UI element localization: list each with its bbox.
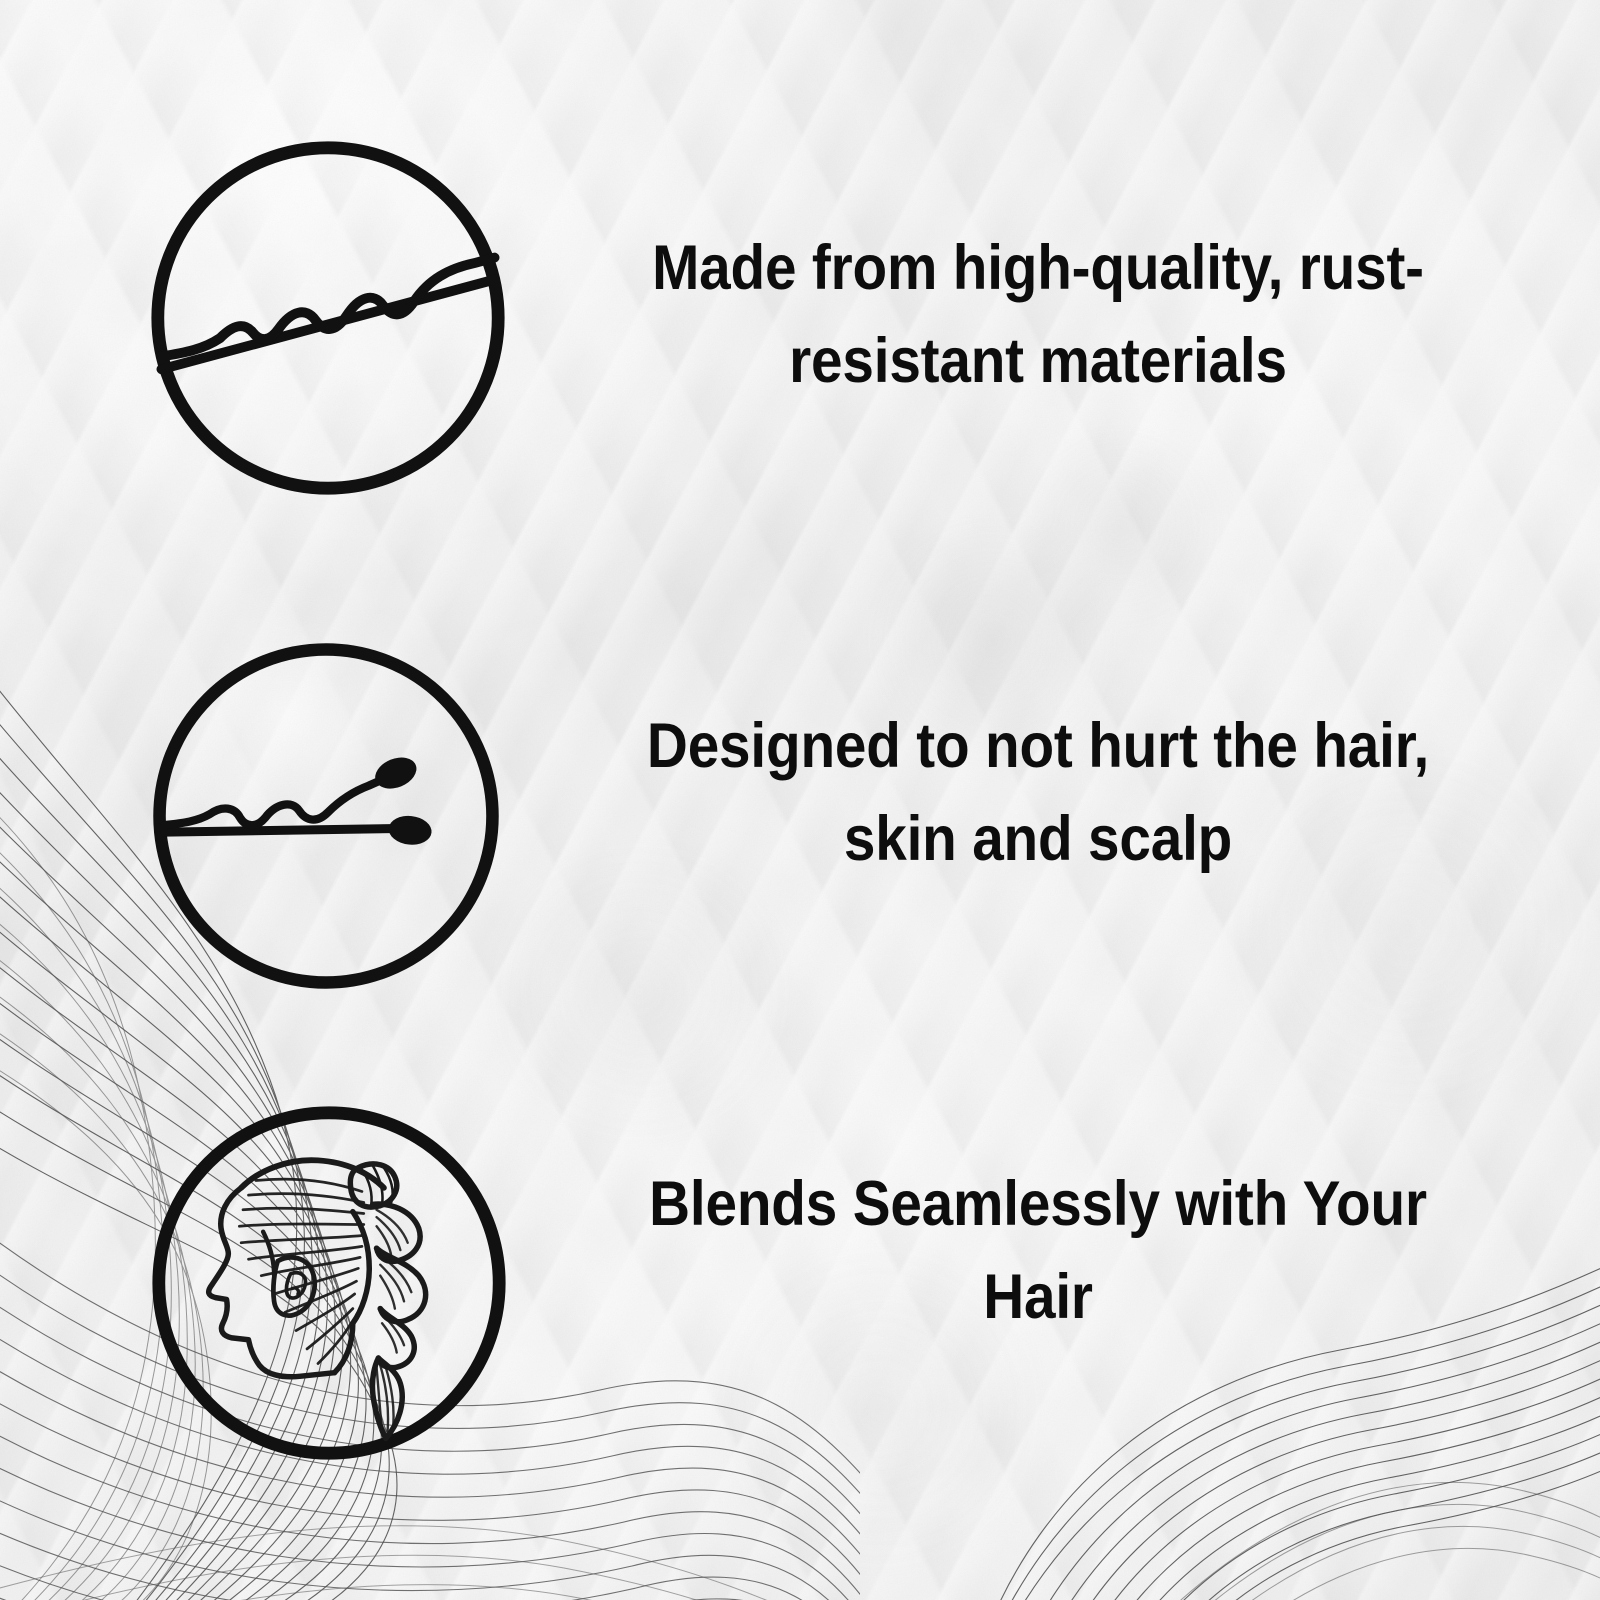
- feature-label-blends-with-hair: Blends Seamlessly with Your Hair: [597, 1158, 1479, 1344]
- feature-label-rust-resistant: Made from high-quality, rust-resistant m…: [597, 222, 1479, 408]
- feature-label-gentle-on-hair: Designed to not hurt the hair, skin and …: [597, 700, 1479, 886]
- feature-icon-gentle-on-hair: [147, 637, 505, 995]
- feature-highlight-page: Made from high-quality, rust-resistant m…: [0, 0, 1600, 1600]
- feature-icon-rust-resistant: [145, 135, 511, 501]
- woman-profile-braid-icon: [146, 1100, 512, 1466]
- feature-icon-blends-with-hair: [146, 1100, 512, 1466]
- bobby-pin-closed-icon: [145, 135, 511, 501]
- bobby-pin-open-icon: [147, 637, 505, 995]
